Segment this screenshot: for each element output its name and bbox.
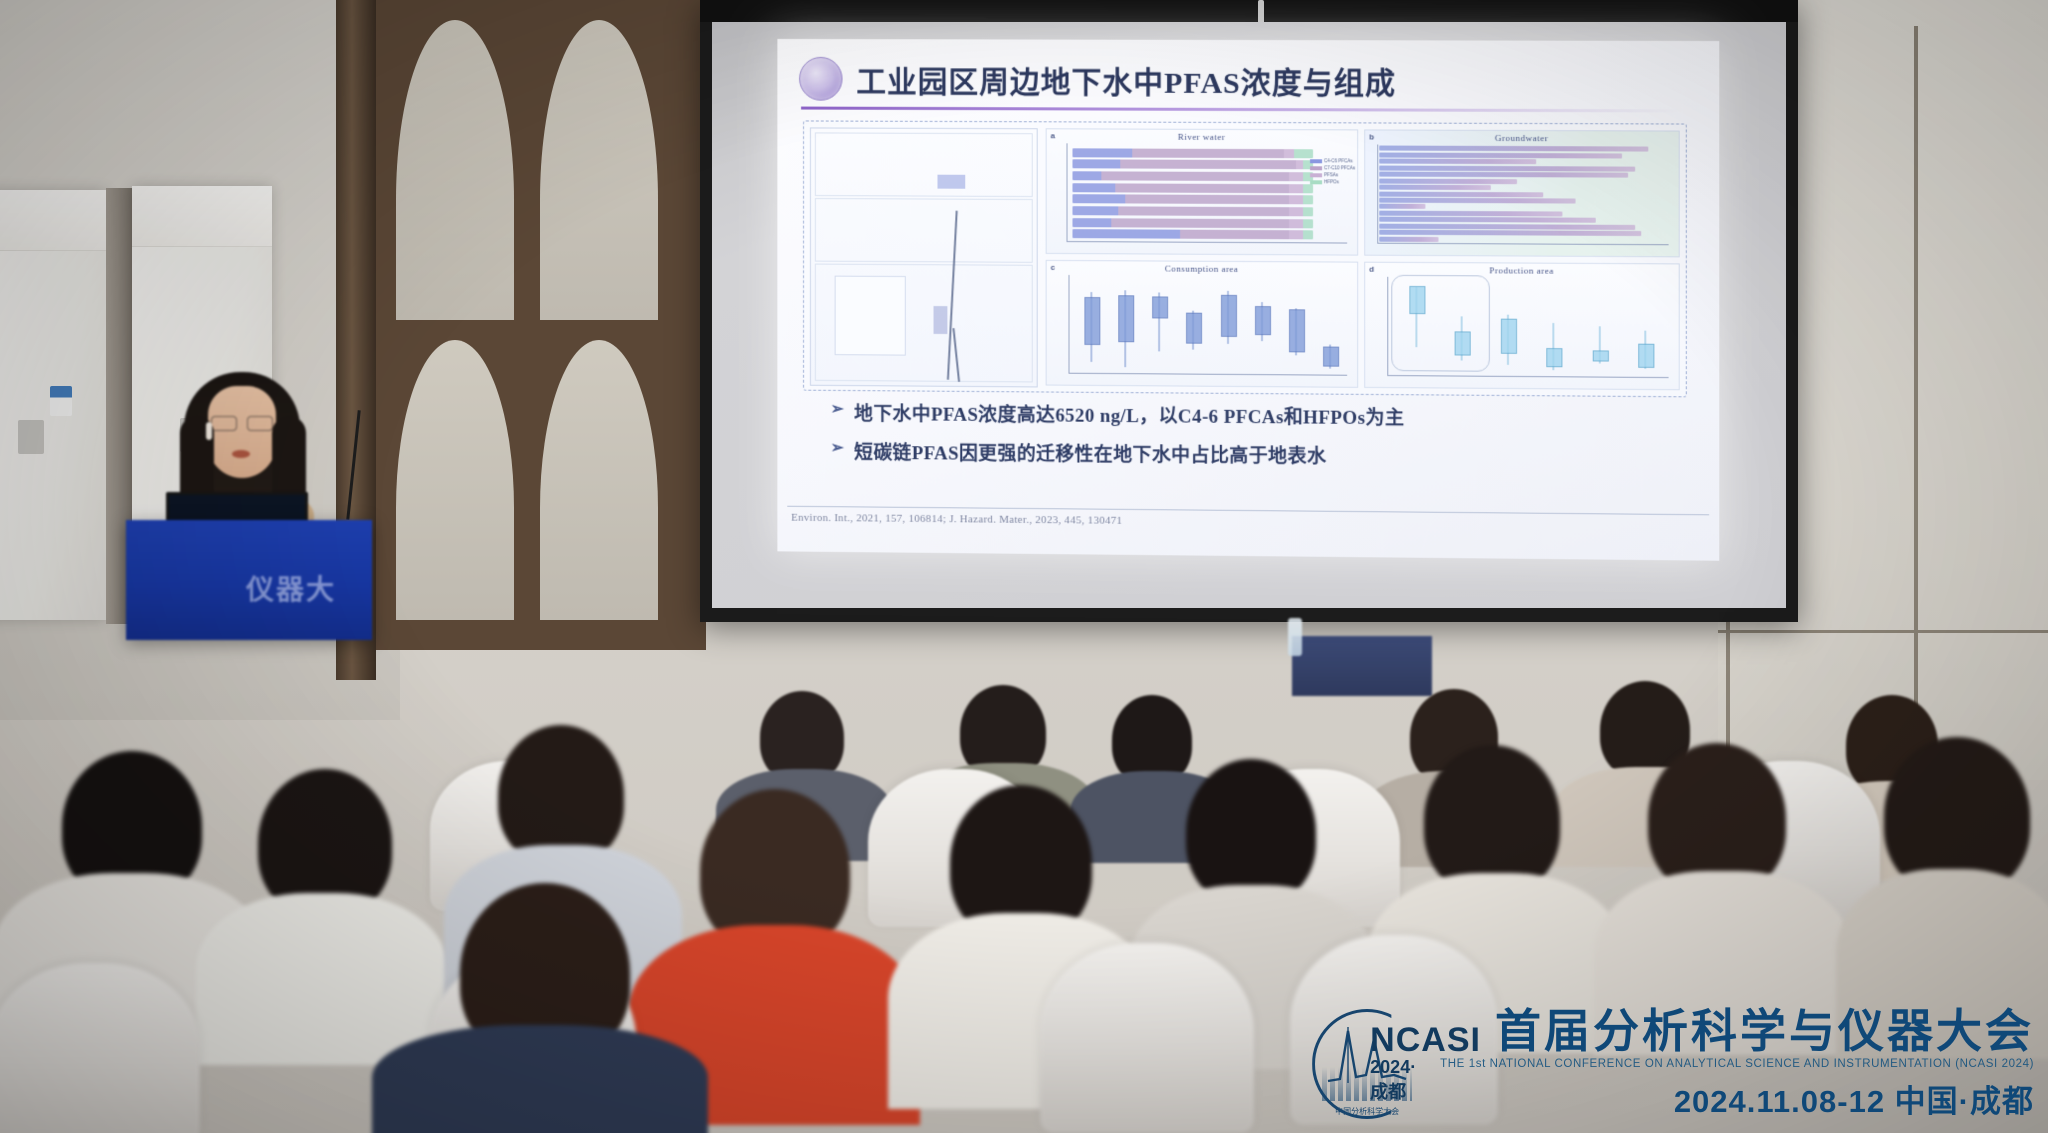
boxplot-box	[1592, 282, 1606, 375]
bar	[1379, 185, 1490, 191]
bar	[1379, 152, 1622, 158]
sampling-zone-marker	[934, 306, 948, 334]
bar-segment	[1303, 231, 1313, 240]
y-axis-line	[1069, 275, 1070, 373]
bar-segment	[1303, 219, 1313, 228]
water-bottle	[1288, 618, 1302, 656]
boxplot-box	[1187, 280, 1201, 372]
bar-segment	[1289, 172, 1303, 181]
bar	[1379, 165, 1635, 171]
chevron-bullet-icon: ➢	[831, 399, 845, 421]
legend-item: C4-C6 PFCAs	[1310, 158, 1355, 163]
bar	[1379, 159, 1536, 165]
bar	[1379, 198, 1576, 204]
headset-microphone-earpiece	[206, 422, 212, 440]
slide-header: 工业园区周边地下水中PFAS浓度与组成	[799, 53, 1699, 108]
conference-branding: 中国分析科学大会 NCASI 2024·成都 首届分析科学与仪器大会 THE 1…	[1308, 1005, 2034, 1123]
legend-label: C7-C10 PFCAs	[1324, 165, 1355, 170]
legend-label: PFSAs	[1324, 172, 1338, 177]
ncasi-logo-icon: 中国分析科学大会 NCASI 2024·成都	[1308, 1005, 1426, 1123]
bar	[1379, 191, 1543, 197]
bar	[1379, 223, 1635, 229]
conference-title-en: THE 1st NATIONAL CONFERENCE ON ANALYTICA…	[1440, 1058, 2034, 1070]
box-iqr	[1409, 286, 1425, 314]
bar	[1379, 210, 1563, 216]
cabinet-label-sticker	[50, 386, 72, 416]
bar	[1379, 217, 1595, 223]
legend-item: PFSAs	[1310, 172, 1355, 177]
bar-segment	[1118, 206, 1289, 216]
stacked-bar-row	[1072, 171, 1313, 181]
bar	[1379, 178, 1517, 184]
boxplot-box	[1221, 280, 1235, 372]
bar-segment	[1072, 194, 1125, 203]
chart-title-river-water: River water	[1047, 131, 1358, 142]
boxplot-box	[1501, 281, 1515, 373]
chart-consumption-area: c Consumption area	[1046, 260, 1359, 388]
speaker-face	[208, 386, 276, 478]
bar-segment	[1072, 183, 1115, 192]
side-table	[1292, 636, 1432, 696]
industrial-park-marker	[937, 175, 965, 189]
lectern-podium: 仪器大	[126, 520, 372, 640]
projection-screen-housing	[700, 0, 1798, 22]
title-underline	[801, 107, 1681, 113]
bar-segment	[1072, 148, 1132, 157]
eyeglasses-icon	[211, 416, 273, 429]
conference-title-zh: 首届分析科学与仪器大会	[1495, 1007, 2034, 1055]
box-iqr	[1152, 297, 1168, 318]
y-axis-line	[1067, 143, 1068, 241]
chart-grid: a River water C4-C6 PFCAsC7-C10 PFCAsPFS…	[1046, 128, 1680, 390]
bar-segment	[1289, 184, 1303, 193]
stacked-bar-row	[1072, 194, 1313, 204]
boxplot-box	[1255, 280, 1269, 372]
reference-citation: Environ. Int., 2021, 157, 106814; J. Haz…	[791, 512, 1122, 527]
bar-segment	[1294, 149, 1313, 158]
legend-label: C4-C6 PFCAs	[1324, 158, 1353, 163]
conference-title-block: 首届分析科学与仪器大会 THE 1st NATIONAL CONFERENCE …	[1440, 1007, 2034, 1121]
boxplot-box	[1152, 279, 1166, 371]
bar-segment	[1289, 195, 1303, 204]
boxplot-box	[1638, 282, 1652, 375]
legend-swatch	[1310, 180, 1322, 184]
cabinet-vent	[18, 420, 44, 454]
map-legend-box	[835, 276, 906, 356]
logo-year-city: 2024·成都	[1370, 1057, 1426, 1104]
bar	[1379, 172, 1628, 178]
map-inset-regional	[815, 198, 1033, 263]
stacked-bar-row	[1072, 206, 1313, 216]
bar-segment	[1125, 195, 1289, 205]
cabinet-top-panel	[132, 186, 272, 247]
bar-segment	[1289, 219, 1303, 228]
boxplot-box	[1084, 279, 1098, 371]
x-axis-line	[1387, 375, 1668, 378]
podium-branding-text: 仪器大	[246, 568, 336, 608]
bar-segment	[1116, 183, 1289, 193]
boxplot-series	[1074, 279, 1347, 373]
stacked-bar-row	[1072, 148, 1313, 158]
bar-segment	[1289, 230, 1303, 239]
box-iqr	[1501, 318, 1517, 353]
boxplot-box	[1118, 279, 1132, 371]
boxplot-box	[1455, 281, 1469, 373]
presentation-slide: 工业园区周边地下水中PFAS浓度与组成	[777, 39, 1719, 561]
chart-groundwater: b Groundwater	[1364, 129, 1680, 257]
chart-legend: C4-C6 PFCAsC7-C10 PFCAsPFSAsHFPOs	[1310, 158, 1355, 184]
bar-segment	[1072, 171, 1101, 180]
bar-segment	[1072, 160, 1120, 169]
legend-swatch	[1310, 166, 1322, 170]
logo-acronym: NCASI	[1370, 1021, 1481, 1060]
box-iqr	[1084, 297, 1100, 345]
wall-panel-seam-horizontal	[1718, 630, 2048, 633]
y-axis-line	[1387, 277, 1388, 375]
stacked-bar-row	[1072, 183, 1313, 193]
chart-title-consumption-area: Consumption area	[1047, 263, 1358, 275]
bar-segment	[1072, 218, 1110, 227]
bar	[1379, 146, 1648, 152]
air-conditioner-cabinet-left	[0, 190, 106, 620]
bar-segment	[1111, 218, 1289, 228]
stacked-bar-row	[1072, 218, 1313, 228]
university-seal-icon	[799, 57, 842, 101]
bar-segment	[1072, 229, 1180, 239]
slide-bullet-list: ➢ 地下水中PFAS浓度高达6520 ng/L，以C4-6 PFCAs和HFPO…	[831, 399, 1693, 484]
stacked-bar-row	[1072, 229, 1313, 239]
chevron-bullet-icon: ➢	[831, 438, 845, 460]
bar-segment	[1296, 161, 1303, 170]
box-iqr	[1187, 313, 1203, 345]
box-iqr	[1221, 294, 1237, 337]
speaker-mouth	[232, 450, 250, 458]
box-iqr	[1455, 331, 1471, 355]
bar-segment	[1303, 184, 1313, 193]
chart-title-groundwater: Groundwater	[1365, 132, 1679, 143]
legend-swatch	[1310, 159, 1322, 163]
bar-series	[1379, 145, 1648, 245]
map-inset-overview	[815, 132, 1033, 197]
bar	[1379, 230, 1641, 236]
bullet-item: ➢ 短碳链PFAS因更强的迁移性在地下水中占比高于地表水	[831, 438, 1693, 472]
bar-segment	[1303, 207, 1313, 216]
legend-item: HFPOs	[1310, 179, 1355, 184]
bar-segment	[1181, 230, 1289, 240]
box-iqr	[1592, 350, 1608, 361]
wall-panel-seam-vertical	[1914, 26, 1918, 786]
bar-segment	[1101, 171, 1289, 181]
box-iqr	[1255, 306, 1271, 336]
bullet-text: 短碳链PFAS因更强的迁移性在地下水中占比高于地表水	[854, 438, 1326, 469]
y-axis-line	[1377, 145, 1378, 243]
box-iqr	[1638, 343, 1654, 367]
cabinet-top-panel	[0, 190, 106, 251]
bar	[1379, 204, 1425, 209]
boxplot-box	[1323, 280, 1337, 372]
legend-swatch	[1310, 173, 1322, 177]
bar	[1379, 236, 1438, 241]
stacked-bar-row	[1072, 160, 1313, 170]
figure-container: a River water C4-C6 PFCAsC7-C10 PFCAsPFS…	[803, 120, 1687, 397]
chart-river-water: a River water C4-C6 PFCAsC7-C10 PFCAsPFS…	[1046, 128, 1359, 255]
study-area-map-figure	[810, 127, 1038, 387]
legend-item: C7-C10 PFCAs	[1310, 165, 1355, 170]
chart-production-area: d Production area	[1364, 262, 1680, 391]
boxplot-box	[1289, 280, 1303, 372]
x-axis-line	[1069, 373, 1348, 376]
boxplot-box	[1547, 282, 1561, 375]
bar-segment	[1289, 207, 1303, 216]
legend-label: HFPOs	[1324, 179, 1339, 184]
screenshot-root: 工业园区周边地下水中PFAS浓度与组成	[0, 0, 2048, 1133]
logo-seal-text: 中国分析科学大会	[1308, 1106, 1426, 1117]
boxplot-series	[1393, 281, 1668, 375]
bar-segment	[1120, 160, 1296, 170]
bar-segment	[1132, 148, 1284, 158]
bar-segment	[1303, 196, 1313, 205]
bar-segment	[1284, 149, 1294, 158]
bullet-item: ➢ 地下水中PFAS浓度高达6520 ng/L，以C4-6 PFCAs和HFPO…	[831, 399, 1693, 433]
box-iqr	[1547, 348, 1563, 367]
box-iqr	[1118, 296, 1134, 342]
box-iqr	[1323, 347, 1339, 368]
stacked-bar-series	[1072, 145, 1313, 242]
bar-segment	[1072, 206, 1118, 215]
box-iqr	[1289, 310, 1305, 353]
conference-date-location: 2024.11.08-12 中国·成都	[1674, 1076, 2034, 1121]
boxplot-box	[1409, 281, 1423, 373]
bullet-text: 地下水中PFAS浓度高达6520 ng/L，以C4-6 PFCAs和HFPOs为…	[854, 399, 1404, 430]
slide-title: 工业园区周边地下水中PFAS浓度与组成	[856, 57, 1396, 102]
